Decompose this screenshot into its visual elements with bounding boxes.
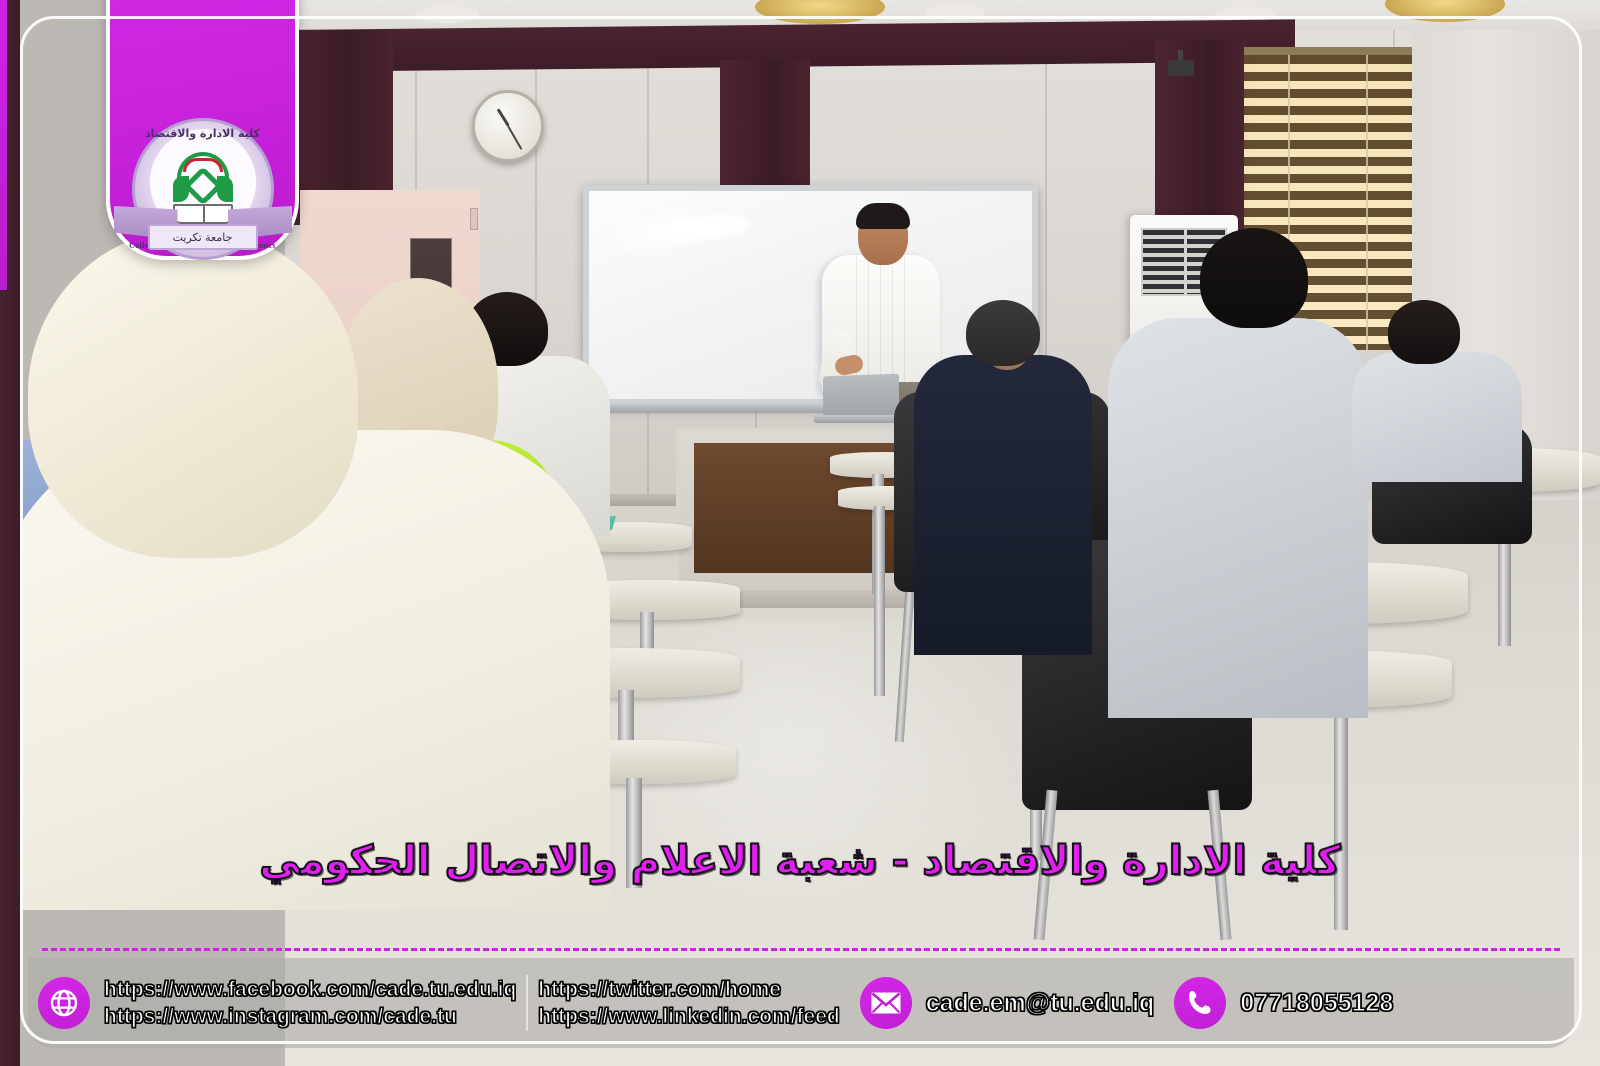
phone-number[interactable]: 07718055128 bbox=[1240, 989, 1393, 1018]
student-right-body bbox=[1108, 318, 1368, 718]
globe-icon[interactable] bbox=[38, 977, 90, 1029]
social-links-secondary: https://twitter.com/home https://www.lin… bbox=[538, 978, 839, 1029]
instructor-hair bbox=[856, 203, 910, 229]
student-right-head bbox=[1200, 228, 1308, 328]
wall-switch bbox=[470, 208, 478, 230]
student-center-head bbox=[966, 300, 1040, 366]
security-camera-icon bbox=[1168, 60, 1194, 76]
student-foreground-hijab bbox=[28, 228, 358, 558]
ribbon-plate: جامعة تكريت bbox=[148, 224, 258, 250]
laptop-screen bbox=[823, 374, 899, 421]
poster-root: كلية الادارة والاقتصاد College of Admini… bbox=[0, 0, 1600, 1066]
ac-grill-divider bbox=[1184, 228, 1187, 296]
seal-arabic-text: كلية الادارة والاقتصاد bbox=[145, 127, 260, 140]
social-links-primary: https://www.facebook.com/cade.tu.edu.iq … bbox=[104, 978, 516, 1029]
dashed-separator bbox=[42, 948, 1560, 951]
table-leg bbox=[1334, 700, 1348, 930]
student-center-body bbox=[914, 355, 1092, 655]
table-leg bbox=[874, 506, 885, 696]
linkedin-url[interactable]: https://www.linkedin.com/feed bbox=[538, 1005, 839, 1029]
twitter-url[interactable]: https://twitter.com/home bbox=[538, 978, 839, 1002]
wall-clock bbox=[472, 90, 544, 162]
left-edge-accent bbox=[0, 0, 7, 290]
footer-column-email: cade.em@tu.edu.iq bbox=[850, 958, 1165, 1048]
caption-banner: كلية الادارة والاقتصاد - شعبة الاعلام وا… bbox=[0, 838, 1600, 884]
footer-column-web: https://www.facebook.com/cade.tu.edu.iq … bbox=[28, 958, 526, 1048]
phone-icon[interactable] bbox=[1174, 977, 1226, 1029]
email-address[interactable]: cade.em@tu.edu.iq bbox=[926, 989, 1155, 1018]
envelope-icon[interactable] bbox=[860, 977, 912, 1029]
student-far-right-head bbox=[1388, 300, 1460, 364]
caption-text: كلية الادارة والاقتصاد - شعبة الاعلام وا… bbox=[259, 838, 1340, 884]
seal-ribbon: جامعة تكريت bbox=[114, 202, 292, 258]
facebook-url[interactable]: https://www.facebook.com/cade.tu.edu.iq bbox=[104, 978, 516, 1002]
footer-column-phone: 07718055128 bbox=[1164, 958, 1403, 1048]
footer-bar: https://www.facebook.com/cade.tu.edu.iq … bbox=[28, 958, 1574, 1048]
instagram-url[interactable]: https://www.instagram.com/cade.tu bbox=[104, 1005, 516, 1029]
logo-card: كلية الادارة والاقتصاد College of Admini… bbox=[106, 0, 299, 260]
footer-column-social: https://twitter.com/home https://www.lin… bbox=[528, 958, 849, 1048]
student-far-right-body bbox=[1352, 352, 1522, 482]
ribbon-label: جامعة تكريت bbox=[173, 231, 233, 244]
